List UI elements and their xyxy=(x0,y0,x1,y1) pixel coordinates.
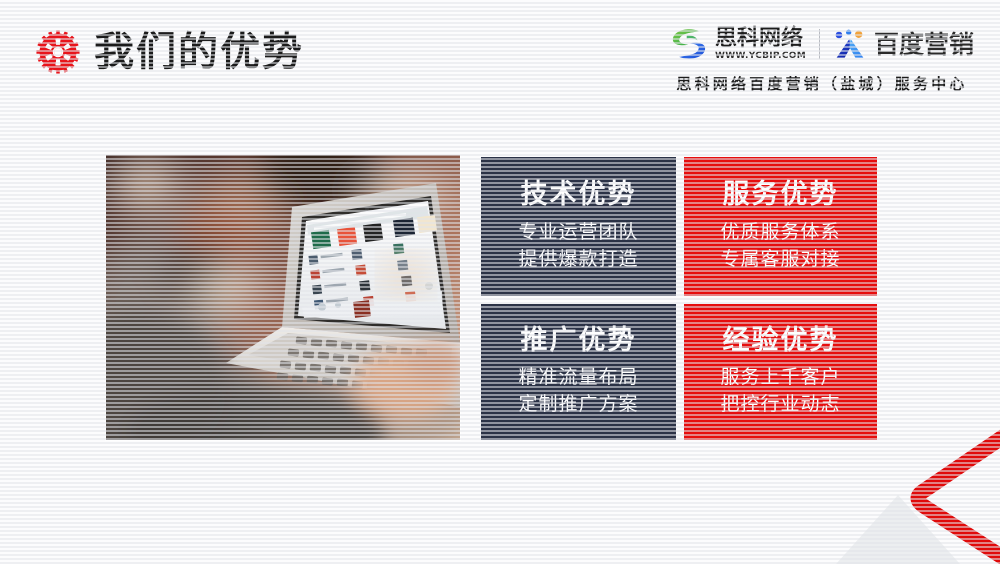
brand-block: 思科网络 WWW.YCBIP.COM xyxy=(670,22,974,94)
slide-canvas: 我们的优势 xyxy=(0,0,1000,564)
advantage-card-title: 技术优势 xyxy=(521,180,637,210)
advantage-card-tech[interactable]: 技术优势 专业运营团队 提供爆款打造 xyxy=(481,157,676,296)
baidu-paw-icon xyxy=(833,29,867,59)
advantage-card-line: 精准流量布局 xyxy=(518,364,638,391)
advantage-card-line: 把控行业动志 xyxy=(720,391,840,418)
advantage-card-title: 经验优势 xyxy=(723,326,839,356)
advantage-card-service[interactable]: 服务优势 优质服务体系 专属客服对接 xyxy=(684,157,877,296)
page-title: 我们的优势 xyxy=(94,32,304,72)
gear-icon xyxy=(36,30,80,74)
sike-text-lockup: 思科网络 WWW.YCBIP.COM xyxy=(715,28,806,61)
advantage-card-line: 优质服务体系 xyxy=(720,219,840,246)
advantage-card-title: 推广优势 xyxy=(521,326,637,356)
sike-brand-name: 思科网络 xyxy=(715,28,806,50)
advantage-card-experience[interactable]: 经验优势 服务上千客户 把控行业动志 xyxy=(684,304,877,440)
laptop-photo xyxy=(106,155,460,440)
brand-subtitle: 思科网络百度营销（盐城）服务中心 xyxy=(676,73,967,94)
advantage-card-line: 专业运营团队 xyxy=(518,219,638,246)
advantage-card-line: 提供爆款打造 xyxy=(518,246,638,273)
advantage-card-promotion[interactable]: 推广优势 精准流量布局 定制推广方案 xyxy=(481,304,676,440)
slide-header: 我们的优势 xyxy=(0,0,1000,110)
laptop-photo-illustration xyxy=(106,155,460,440)
advantage-card-line: 定制推广方案 xyxy=(518,391,638,418)
advantage-card-line: 服务上千客户 xyxy=(720,364,840,391)
brand-divider xyxy=(819,29,820,59)
page-title-block: 我们的优势 xyxy=(36,30,304,74)
partner-logo-sike: 思科网络 WWW.YCBIP.COM xyxy=(670,26,806,62)
decor-chevron-icon xyxy=(905,430,1000,564)
advantage-card-title: 服务优势 xyxy=(723,180,839,210)
advantage-card-line: 专属客服对接 xyxy=(720,246,840,273)
s-swoosh-icon xyxy=(670,26,708,62)
sike-brand-url: WWW.YCBIP.COM xyxy=(715,52,806,61)
brand-logo-row: 思科网络 WWW.YCBIP.COM xyxy=(670,22,974,66)
baidu-brand-name: 百度营销 xyxy=(874,32,974,57)
partner-logo-baidu: 百度营销 xyxy=(833,29,974,59)
